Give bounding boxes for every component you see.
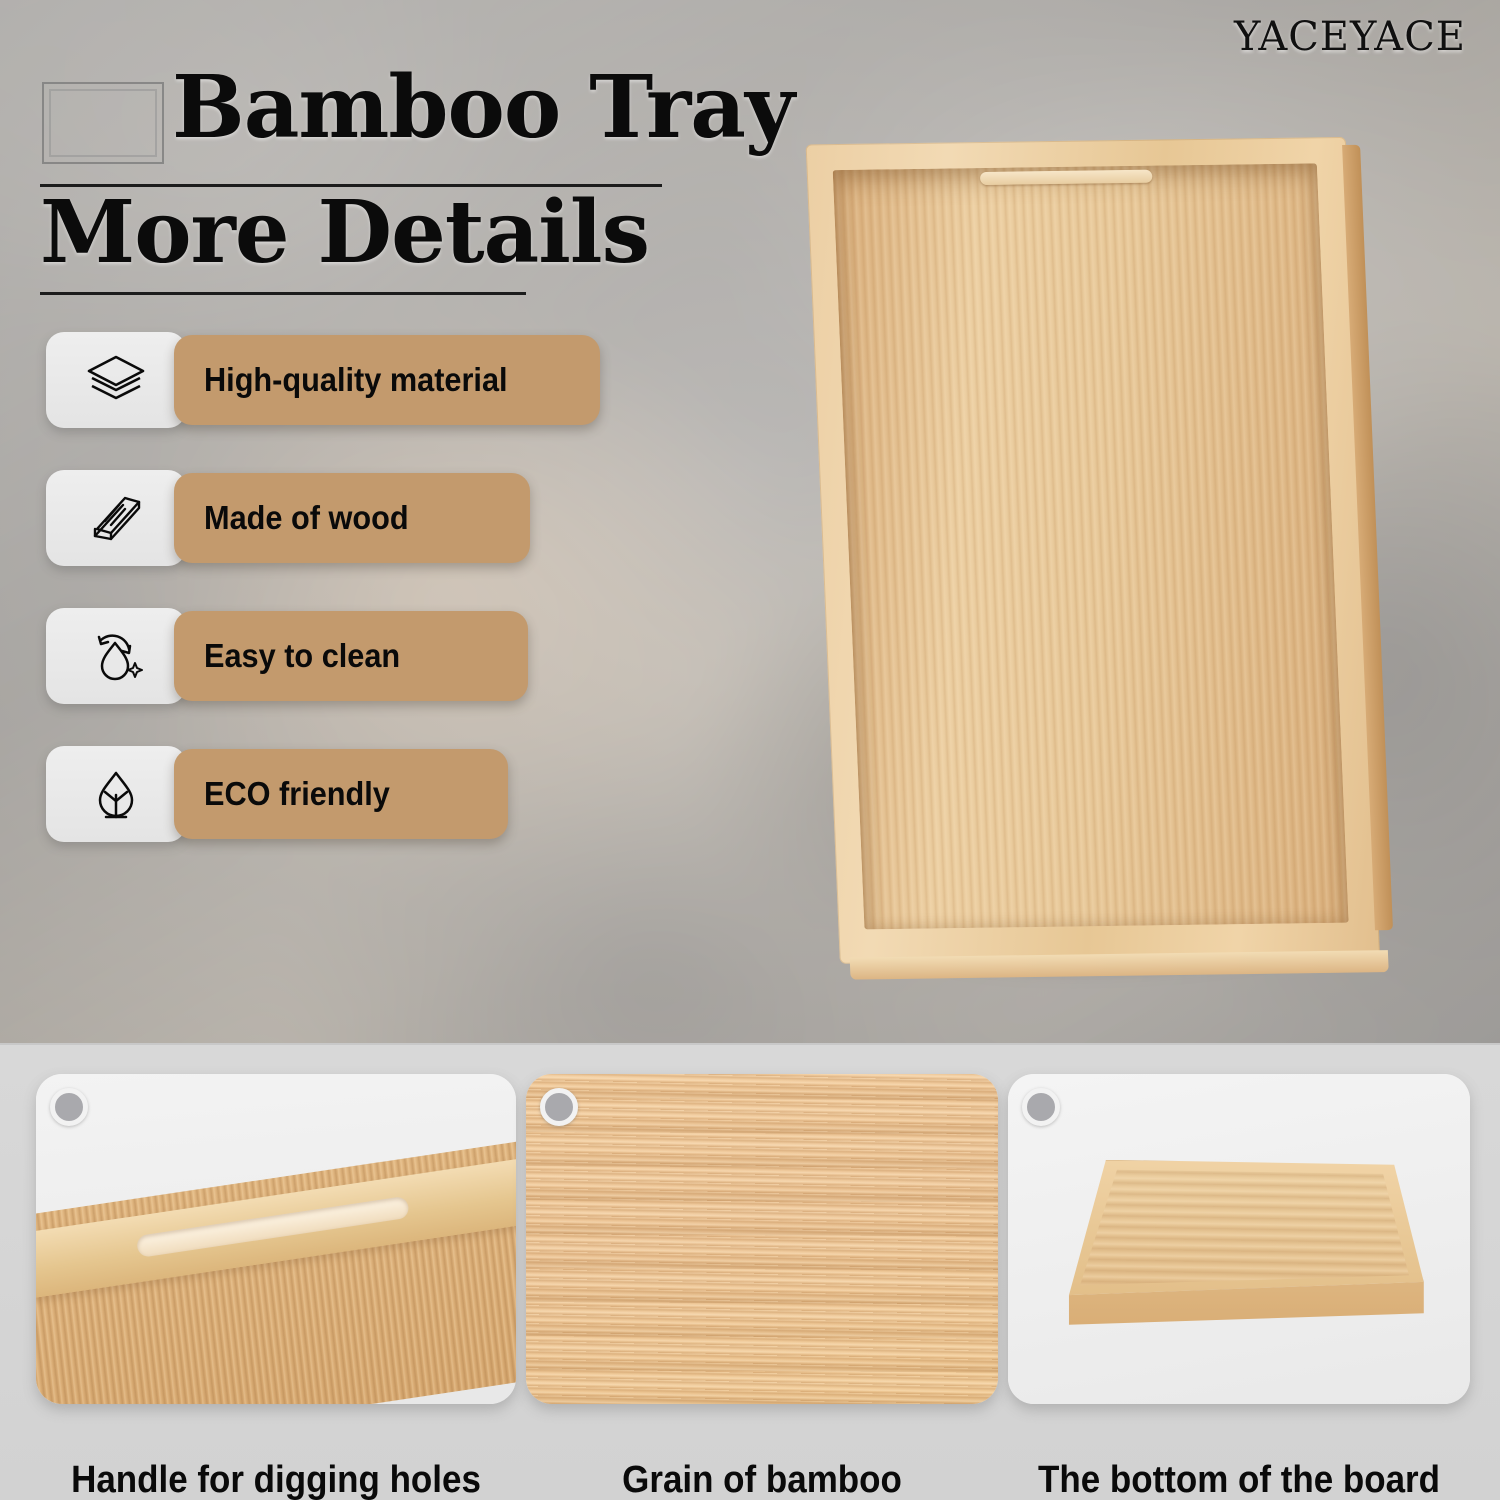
panel-corner-dot (1022, 1088, 1060, 1126)
panel-caption: Handle for digging holes (55, 1459, 497, 1500)
detail-panels-section: Handle for digging holes Grain of bamboo… (0, 1043, 1500, 1500)
panel-caption: The bottom of the board (1026, 1459, 1451, 1500)
brand-logo: YACEYACE (1234, 14, 1466, 60)
hero-section: YACEYACE Bamboo Tray More Details High-q… (0, 0, 1500, 1043)
title-divider-bottom (40, 292, 526, 295)
leaf-icon (85, 765, 147, 823)
page-title: Bamboo Tray (172, 65, 794, 151)
feature-label-pill: ECO friendly (174, 749, 508, 839)
page-subtitle: More Details (40, 190, 649, 276)
panel-image-clip (1008, 1074, 1470, 1404)
bamboo-grain-texture (526, 1074, 998, 1404)
feature-label: High-quality material (204, 361, 508, 399)
feature-label-pill: High-quality material (174, 335, 600, 425)
detail-panel-handle: Handle for digging holes (36, 1074, 516, 1404)
hero-product-image (800, 120, 1460, 1020)
water-drop-refresh-icon (85, 627, 147, 685)
layers-icon (85, 351, 147, 409)
feature-label: ECO friendly (204, 775, 390, 813)
feature-label: Made of wood (204, 499, 409, 537)
feature-label-pill: Made of wood (174, 473, 530, 563)
panel-corner-dot (50, 1088, 88, 1126)
wood-planks-icon (85, 489, 147, 547)
bamboo-tray-upright (806, 137, 1380, 964)
panel-corner-dot (540, 1088, 578, 1126)
panel-image-clip (36, 1074, 516, 1404)
rectangle-frame-icon (42, 82, 164, 164)
panel-image-clip (526, 1074, 998, 1404)
product-infographic: YACEYACE Bamboo Tray More Details High-q… (0, 0, 1500, 1500)
detail-panel-grain: Grain of bamboo (526, 1074, 998, 1404)
feature-label: Easy to clean (204, 637, 400, 675)
feature-icon-card (46, 746, 186, 842)
feature-label-pill: Easy to clean (174, 611, 528, 701)
detail-panel-bottom: The bottom of the board (1008, 1074, 1470, 1404)
panel-caption: Grain of bamboo (545, 1459, 979, 1500)
tray-inner-surface (833, 163, 1349, 929)
handle-slot (980, 170, 1153, 185)
feature-icon-card (46, 608, 186, 704)
feature-icon-card (46, 332, 186, 428)
feature-icon-card (46, 470, 186, 566)
tray-perspective-view (1054, 1160, 1424, 1325)
